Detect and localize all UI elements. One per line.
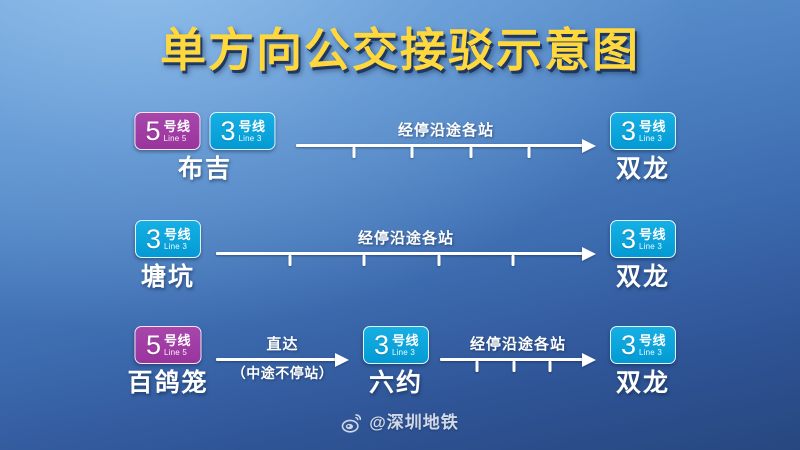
route-1-origin-badges: 5 号线 Line 5 3 号线 Line 3: [134, 112, 275, 150]
line-badge-number: 3: [146, 226, 161, 253]
station-name-destination: 双龙: [616, 263, 670, 292]
route-1-segment-arrow: 经停沿途各站: [296, 126, 596, 166]
line-badge-line3: 3 号线 Line 3: [610, 220, 676, 258]
weibo-icon: [341, 412, 363, 434]
line-badge-cn: 号线: [239, 120, 266, 134]
stop-tick: [527, 147, 530, 158]
line-badge-number: 5: [145, 118, 160, 145]
line-badge-cn: 号线: [639, 228, 666, 242]
stop-tick: [437, 255, 440, 266]
line-badge-line3: 3 号线 Line 3: [135, 220, 201, 258]
route-3-origin-badges: 5 号线 Line 5: [135, 326, 201, 364]
line-badge-number: 5: [146, 332, 161, 359]
route-3-segment-2-arrow: 经停沿途各站: [440, 340, 596, 380]
route-row-1: 5 号线 Line 5 3 号线 Line 3 布吉 经停沿途各站: [0, 112, 800, 198]
route-row-2: 3 号线 Line 3 塘坑 经停沿途各站: [0, 220, 800, 306]
stop-tick: [549, 361, 552, 372]
line-badge-cn: 号线: [164, 334, 191, 348]
stop-tick: [411, 147, 414, 158]
segment-stop-ticks: [216, 255, 587, 266]
route-1-destination-node: 3 号线 Line 3 双龙: [610, 112, 676, 184]
route-3-destination-badges: 3 号线 Line 3: [610, 326, 676, 364]
line-badge-en: Line 3: [164, 242, 191, 251]
station-name-origin: 百鸽笼: [127, 369, 208, 398]
stop-tick: [289, 255, 292, 266]
line-badge-en: Line 3: [639, 348, 666, 357]
stop-tick: [512, 361, 515, 372]
route-2-segment-arrow: 经停沿途各站: [216, 234, 596, 274]
line-badge-line5: 5 号线 Line 5: [134, 112, 200, 150]
route-2-origin-node: 3 号线 Line 3 塘坑: [135, 220, 201, 292]
station-name-origin: 塘坑: [141, 263, 195, 292]
stop-tick: [511, 255, 514, 266]
line-badge-line3: 3 号线 Line 3: [363, 326, 429, 364]
segment-sub-label: （中途不停站）: [216, 365, 349, 382]
line-badge-number: 3: [221, 118, 236, 145]
route-row-3: 5 号线 Line 5 百鸽笼 直达 （中途不停站） 3 号线: [0, 326, 800, 412]
arrow-shaft: [216, 358, 340, 361]
route-2-destination-node: 3 号线 Line 3 双龙: [610, 220, 676, 292]
station-name-transfer: 六约: [369, 369, 423, 398]
route-3-destination-node: 3 号线 Line 3 双龙: [610, 326, 676, 398]
line-badge-cn: 号线: [163, 120, 190, 134]
line-badge-number: 3: [621, 118, 636, 145]
route-3-origin-node: 5 号线 Line 5 百鸽笼: [127, 326, 208, 398]
station-name-origin: 布吉: [178, 155, 232, 184]
stop-tick: [353, 147, 356, 158]
segment-label: 经停沿途各站: [440, 336, 596, 354]
route-3-transfer-node: 3 号线 Line 3 六约: [363, 326, 429, 398]
route-1-destination-badges: 3 号线 Line 3: [610, 112, 676, 150]
line-badge-line3: 3 号线 Line 3: [210, 112, 276, 150]
route-2-origin-badges: 3 号线 Line 3: [135, 220, 201, 258]
line-badge-line3: 3 号线 Line 3: [610, 326, 676, 364]
line-badge-en: Line 3: [239, 134, 266, 143]
line-badge-line5: 5 号线 Line 5: [135, 326, 201, 364]
line-badge-en: Line 3: [639, 242, 666, 251]
line-badge-line3: 3 号线 Line 3: [610, 112, 676, 150]
segment-label: 直达: [216, 336, 349, 354]
watermark-text: @深圳地铁: [369, 413, 459, 433]
watermark: @深圳地铁: [0, 412, 800, 434]
route-3-transfer-badges: 3 号线 Line 3: [363, 326, 429, 364]
route-1-origin-node: 5 号线 Line 5 3 号线 Line 3 布吉: [134, 112, 275, 184]
station-name-destination: 双龙: [616, 155, 670, 184]
line-badge-en: Line 3: [392, 348, 419, 357]
line-badge-cn: 号线: [639, 334, 666, 348]
segment-label: 经停沿途各站: [296, 122, 596, 140]
segment-label: 经停沿途各站: [216, 230, 596, 248]
stop-tick: [469, 147, 472, 158]
line-badge-number: 3: [374, 332, 389, 359]
route-2-destination-badges: 3 号线 Line 3: [610, 220, 676, 258]
line-badge-en: Line 5: [163, 134, 190, 143]
route-3-segment-1-arrow: 直达 （中途不停站）: [216, 340, 349, 380]
line-badge-cn: 号线: [164, 228, 191, 242]
stop-tick: [475, 361, 478, 372]
infographic-canvas: 单方向公交接驳示意图 5 号线 Line 5 3 号线 Line 3: [0, 0, 800, 450]
line-badge-cn: 号线: [392, 334, 419, 348]
line-badge-number: 3: [621, 332, 636, 359]
segment-stop-ticks: [440, 361, 587, 372]
line-badge-en: Line 3: [639, 134, 666, 143]
line-badge-en: Line 5: [164, 348, 191, 357]
line-badge-cn: 号线: [639, 120, 666, 134]
stop-tick: [363, 255, 366, 266]
segment-stop-ticks: [296, 147, 587, 158]
station-name-destination: 双龙: [616, 369, 670, 398]
page-title: 单方向公交接驳示意图: [0, 24, 800, 76]
line-badge-number: 3: [621, 226, 636, 253]
